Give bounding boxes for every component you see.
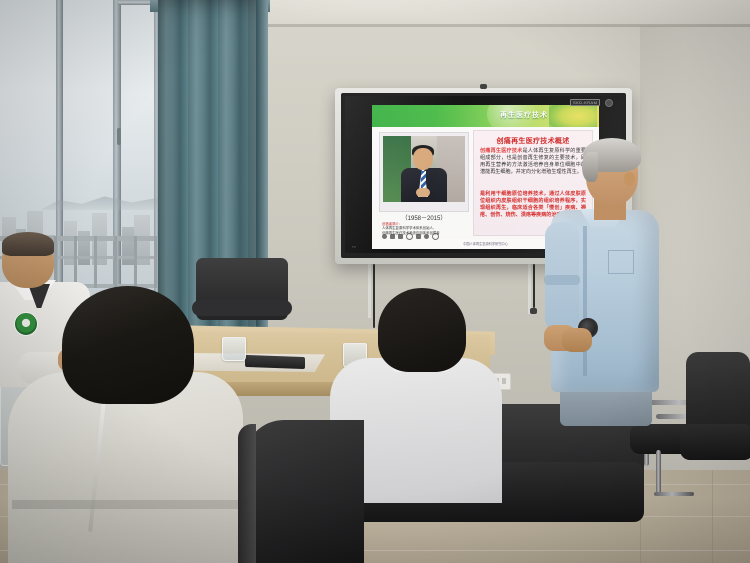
portrait-face xyxy=(413,148,433,170)
slide-banner: 再生医疗技术 xyxy=(372,105,599,127)
tv-mount-arm-left xyxy=(368,262,371,318)
table-cable-port[interactable] xyxy=(245,355,305,369)
camera-icon xyxy=(480,84,487,89)
menu-icon[interactable] xyxy=(424,234,429,239)
tv-bottom-label: TV xyxy=(352,245,356,249)
tv-cable-left xyxy=(373,264,375,328)
attendee-center-hair xyxy=(378,288,466,372)
more-icon[interactable] xyxy=(432,233,439,240)
slide-toolbar[interactable] xyxy=(382,233,458,240)
presenter-trousers xyxy=(560,386,652,426)
ceiling xyxy=(255,0,750,26)
cable-clip xyxy=(530,308,537,314)
jacket-hem xyxy=(12,500,238,509)
chair-foreground-right-edge xyxy=(238,424,256,563)
window-handle[interactable] xyxy=(117,128,121,145)
presenter-shirt-placket xyxy=(583,226,587,376)
meeting-room-photo: 再生医疗技术 （1958－2015） 创造者简介： 人体再生复原科学学术体系创始… xyxy=(0,0,750,563)
presenter-shirt-pocket xyxy=(608,250,634,274)
banner-leaf-decor xyxy=(549,105,597,127)
slide-panel-title: 创痛再生医疗技术概述 xyxy=(474,136,592,146)
slide-banner-title: 再生医疗技术 xyxy=(500,110,548,120)
chair-foreground-right[interactable] xyxy=(244,420,364,563)
eraser-icon[interactable] xyxy=(406,233,413,240)
portrait-hands xyxy=(416,188,430,197)
highlighter-icon[interactable] xyxy=(398,234,403,239)
attendee-foreground-hair xyxy=(62,286,194,404)
presenter-sleeve-hem xyxy=(544,275,580,285)
tv-brand-logo: SKD-KRAM xyxy=(570,99,600,106)
empty-chair-center[interactable] xyxy=(196,258,288,328)
pen-icon[interactable] xyxy=(390,234,395,239)
portrait-photo xyxy=(383,136,465,202)
chair-right-back[interactable] xyxy=(686,352,750,482)
tv-cable-right xyxy=(533,264,535,308)
water-glass-left[interactable] xyxy=(222,337,246,361)
slideshow-icon[interactable] xyxy=(416,234,421,239)
power-led-icon[interactable] xyxy=(605,99,613,107)
pointer-icon[interactable] xyxy=(382,234,387,239)
portrait-caption: （1958－2015） xyxy=(380,213,468,222)
green-emblem-icon xyxy=(14,312,38,336)
slide-paragraph-keyword: 创痛再生医疗技术 xyxy=(480,148,522,154)
slide-paragraph: 创痛再生医疗技术是人体再生复原科学的重要组成部分，也是创音再生修复的主要技术，即… xyxy=(480,148,586,176)
presenter-hair-side xyxy=(582,152,598,182)
tv-mount-arm-right xyxy=(528,262,531,314)
presenter-ear xyxy=(624,172,635,186)
attendee-left-hair xyxy=(2,232,54,256)
presenter-right-hand xyxy=(562,328,592,352)
ceiling-edge xyxy=(255,24,750,27)
